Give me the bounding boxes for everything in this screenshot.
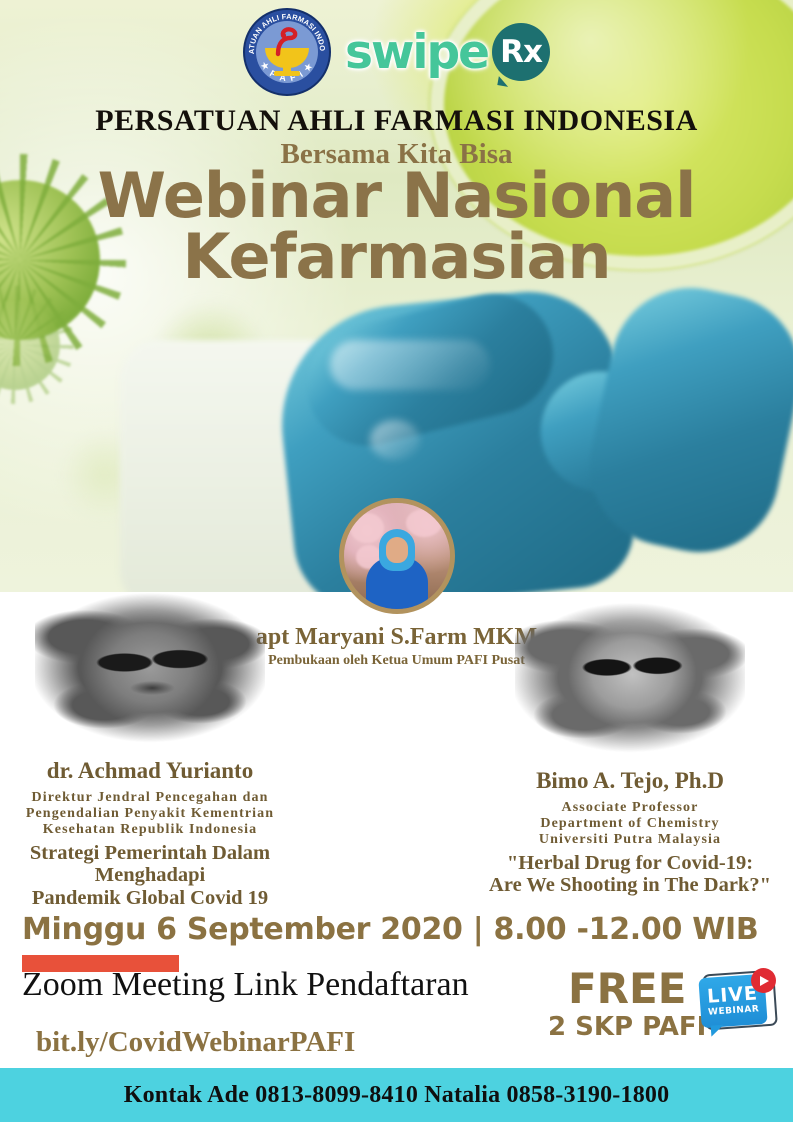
price-label: FREE [548, 968, 706, 1010]
blossom-shape [350, 513, 384, 543]
price-block: FREE 2 SKP PAFI [548, 968, 706, 1043]
glove-highlight [370, 420, 420, 460]
speaker-portrait-yurianto [35, 586, 265, 756]
pafi-logo: PERSATUAN AHLI FARMASI INDONESIA ★ P A F… [243, 8, 331, 96]
speaker-card-right: Bimo A. Tejo, Ph.D Associate Professor D… [480, 596, 780, 897]
badge-live-label: LIVE [707, 984, 759, 1007]
speaker-name: Bimo A. Tejo, Ph.D [480, 768, 780, 794]
virus-graphic [0, 300, 60, 390]
event-datetime: Minggu 6 September 2020 | 8.00 -12.00 WI… [22, 912, 758, 947]
glove-highlight [330, 340, 490, 390]
portrait-image [35, 586, 265, 756]
contact-bar: Kontak Ade 0813-8099-8410 Natalia 0858-3… [0, 1068, 793, 1122]
speaker-topic: Strategi Pemerintah Dalam Menghadapi Pan… [0, 842, 300, 910]
avatar-face [386, 537, 408, 563]
speaker-portrait-tejo [515, 596, 745, 766]
speaker-card-left: dr. Achmad Yurianto Direktur Jendral Pen… [0, 586, 300, 909]
registration-link[interactable]: bit.ly/CovidWebinarPAFI [36, 1026, 355, 1059]
pafi-base-shape [274, 71, 300, 76]
rx-bubble-icon: Rx [492, 23, 550, 81]
logo-row: PERSATUAN AHLI FARMASI INDONESIA ★ P A F… [0, 8, 793, 96]
speaker-affiliation: Direktur Jendral Pencegahan dan Pengenda… [0, 790, 300, 839]
credits-label: 2 SKP PAFI [548, 1013, 706, 1043]
rx-wordmark: Rx [500, 37, 542, 68]
swipe-wordmark: swipe [345, 29, 488, 76]
main-title: Webinar Nasional Kefarmasian [0, 166, 793, 288]
speaker-avatar-maryani [339, 498, 455, 614]
portrait-image [515, 596, 745, 766]
contact-text: Kontak Ade 0813-8099-8410 Natalia 0858-3… [124, 1082, 670, 1109]
snake-icon [270, 24, 304, 58]
main-title-line2: Kefarmasian [0, 227, 793, 288]
organization-title: PERSATUAN AHLI FARMASI INDONESIA [0, 104, 793, 138]
webinar-poster: PERSATUAN AHLI FARMASI INDONESIA ★ P A F… [0, 0, 793, 1122]
badge-webinar-label: WEBINAR [708, 1005, 760, 1018]
swiperx-logo: swipe Rx [345, 23, 550, 81]
play-icon [751, 968, 776, 993]
speaker-affiliation: Associate Professor Department of Chemis… [480, 800, 780, 849]
event-platform: Zoom Meeting Link Pendaftaran [22, 966, 469, 1004]
speaker-name: dr. Achmad Yurianto [0, 758, 300, 784]
speaker-topic: "Herbal Drug for Covid-19: Are We Shooti… [480, 852, 780, 897]
blossom-shape [406, 509, 442, 537]
live-webinar-badge-icon: LIVE WEBINAR [698, 968, 778, 1040]
